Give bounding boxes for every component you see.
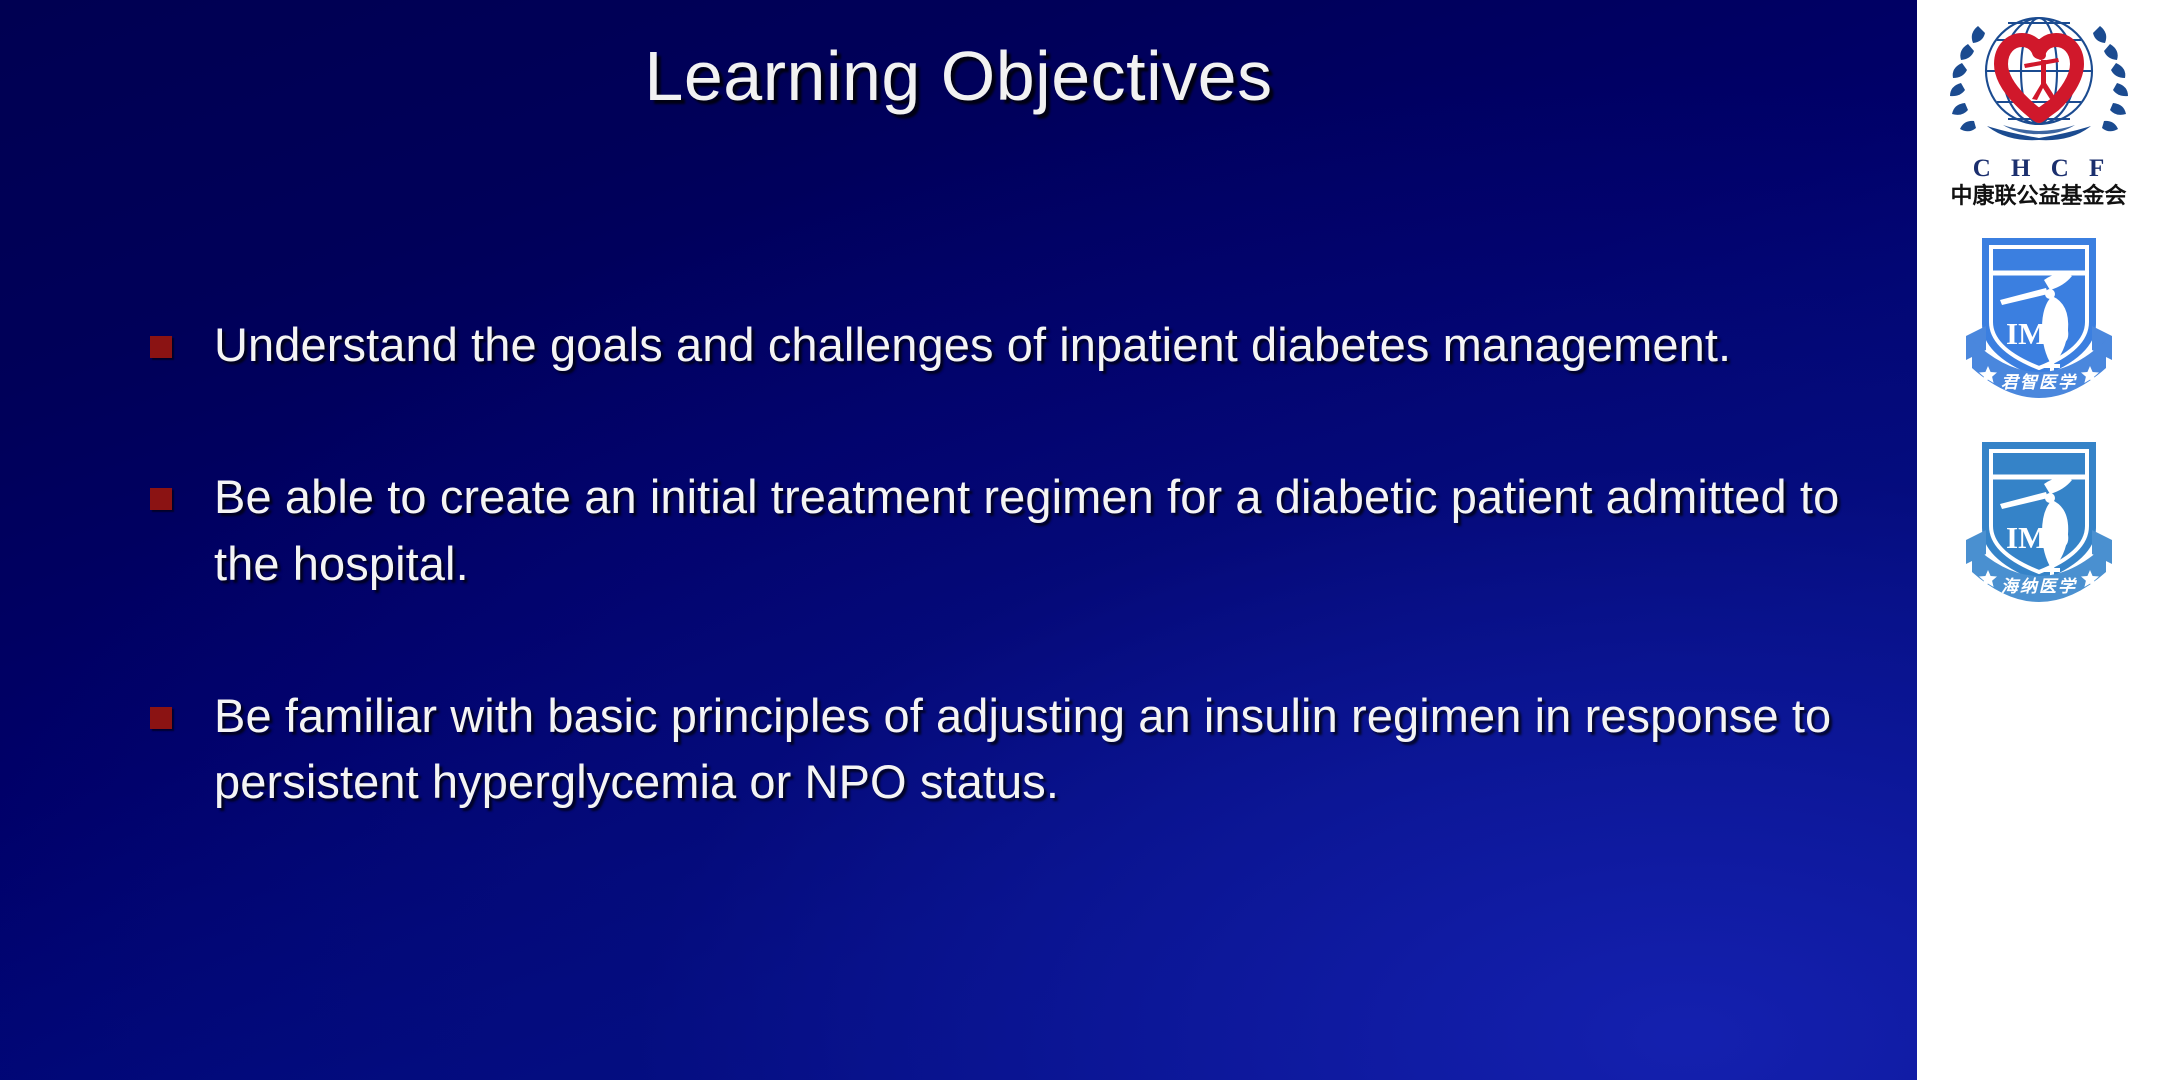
svg-text:IMD: IMD <box>2006 316 2070 351</box>
logo-imd-junzhi: IMD 君智医学 IMD 君智医学 <box>1917 228 2160 410</box>
logo-chcf-chinese-name: 中康联公益基金会 <box>1917 185 2160 208</box>
globe-heart-laurel-icon <box>1946 2 2132 154</box>
imd-shield-crest-icon: IMD 海纳医学 <box>1964 432 2114 612</box>
learning-objectives-list: Understand the goals and challenges of i… <box>150 312 1850 815</box>
list-item: Understand the goals and challenges of i… <box>150 312 1850 378</box>
square-bullet-icon <box>150 488 172 510</box>
logo-chcf: C H C F 中康联公益基金会 <box>1917 2 2160 220</box>
list-item: Be able to create an initial treatment r… <box>150 464 1850 597</box>
list-item-text: Understand the goals and challenges of i… <box>214 312 1850 378</box>
list-item: Be familiar with basic principles of adj… <box>150 683 1850 816</box>
logo-sidebar: C H C F 中康联公益基金会 IMD <box>1917 0 2160 1080</box>
svg-text:IMD: IMD <box>2006 520 2070 555</box>
square-bullet-icon <box>150 707 172 729</box>
slide-title: Learning Objectives <box>0 36 1917 116</box>
logo-chcf-abbreviation: C H C F <box>1917 156 2160 182</box>
list-item-text: Be familiar with basic principles of adj… <box>214 683 1850 816</box>
list-item-text: Be able to create an initial treatment r… <box>214 464 1850 597</box>
imd-shield-crest-icon: IMD 君智医学 <box>1964 228 2114 408</box>
presentation-slide: Learning Objectives Understand the goals… <box>0 0 2160 1080</box>
logo-imd-haina-ribbon-text: 海纳医学 <box>1917 612 1918 613</box>
logo-imd-junzhi-shield-text: IMD <box>1917 408 1918 409</box>
logo-imd-junzhi-ribbon-text: 君智医学 <box>1917 408 1918 409</box>
logo-imd-haina: IMD 海纳医学 IMD 海纳医学 <box>1917 432 2160 614</box>
slide-content-area: Learning Objectives Understand the goals… <box>0 0 1917 1080</box>
svg-text:君智医学: 君智医学 <box>2001 373 2078 393</box>
square-bullet-icon <box>150 336 172 358</box>
svg-text:海纳医学: 海纳医学 <box>2001 577 2078 597</box>
logo-imd-haina-shield-text: IMD <box>1917 612 1918 613</box>
